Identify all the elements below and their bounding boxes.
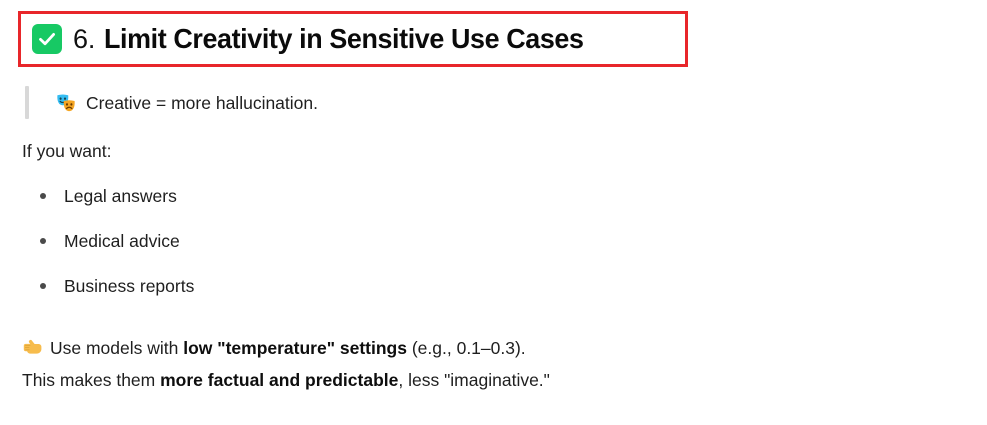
blockquote-text: Creative = more hallucination.	[86, 93, 318, 113]
bullet-icon	[40, 283, 46, 289]
blockquote-text-wrapper: Creative = more hallucination.	[55, 92, 318, 114]
section-number: 6.	[73, 26, 95, 53]
closing-suffix: , less "imaginative."	[398, 370, 550, 390]
intro-text: If you want:	[22, 143, 112, 161]
recommendation-suffix: (e.g., 0.1–0.3).	[407, 338, 526, 358]
backhand-index-pointing-right-icon	[22, 337, 43, 358]
recommendation-prefix: Use models with	[50, 338, 183, 358]
list-item: Legal answers	[22, 188, 194, 233]
requirements-list: Legal answers Medical advice Business re…	[22, 188, 194, 323]
closing-line: This makes them more factual and predict…	[22, 372, 550, 390]
performing-arts-masks-icon	[55, 92, 77, 114]
list-item: Business reports	[22, 278, 194, 323]
blockquote: Creative = more hallucination.	[25, 86, 318, 119]
document-page: 6. Limit Creativity in Sensitive Use Cas…	[0, 0, 987, 425]
list-item: Medical advice	[22, 233, 194, 278]
list-item-label: Business reports	[64, 278, 194, 296]
list-item-label: Legal answers	[64, 188, 177, 206]
bullet-icon	[40, 238, 46, 244]
list-item-label: Medical advice	[64, 233, 180, 251]
blockquote-bar	[25, 86, 29, 119]
closing-bold: more factual and predictable	[160, 370, 398, 390]
recommendation-line: Use models with low "temperature" settin…	[22, 337, 526, 358]
section-heading-highlight-box: 6. Limit Creativity in Sensitive Use Cas…	[18, 11, 688, 67]
bullet-icon	[40, 193, 46, 199]
closing-prefix: This makes them	[22, 370, 160, 390]
page-title: Limit Creativity in Sensitive Use Cases	[104, 25, 584, 53]
recommendation-bold: low "temperature" settings	[183, 338, 407, 358]
white-check-mark-icon	[32, 24, 62, 54]
